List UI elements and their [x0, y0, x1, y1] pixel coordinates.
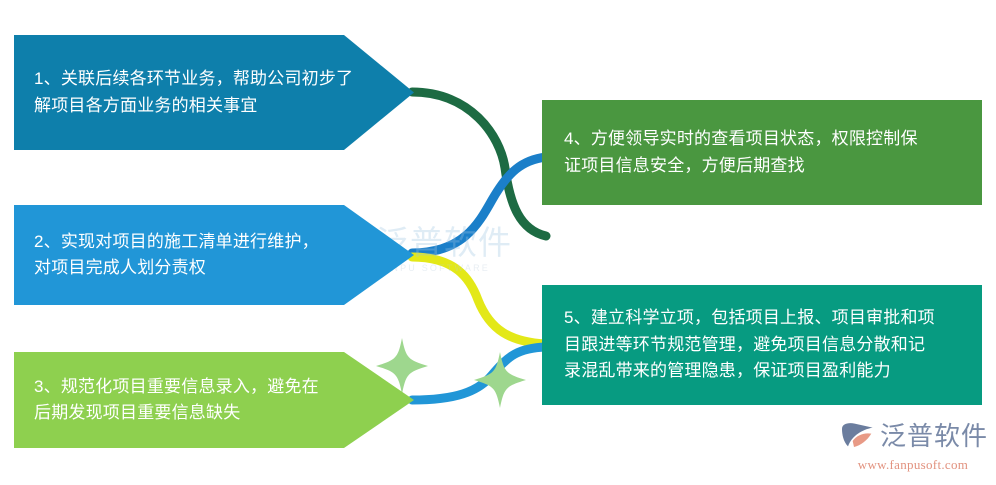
node-1-label: 1、关联后续各环节业务，帮助公司初步了 解项目各方面业务的相关事宜 — [34, 66, 376, 119]
diagram-node-1[interactable]: 1、关联后续各环节业务，帮助公司初步了 解项目各方面业务的相关事宜 — [14, 35, 414, 150]
brand-logo-text: 泛普软件 — [880, 424, 988, 450]
node-layer: 1、关联后续各环节业务，帮助公司初步了 解项目各方面业务的相关事宜 2、实现对项… — [0, 0, 996, 485]
brand-logo-url: www.fanpusoft.com — [858, 457, 968, 473]
diagram-canvas: 泛普软件 FANPU SOFTWARE 1、关联后续各环节业务，帮助公司初步了 … — [0, 0, 996, 485]
diagram-node-3[interactable]: 3、规范化项目重要信息录入，避免在 后期发现项目重要信息缺失 — [14, 352, 414, 448]
diagram-node-4[interactable]: 4、方便领导实时的查看项目状态，权限控制保 证项目信息安全，方便后期查找 — [542, 100, 982, 205]
node-5-label: 5、建立科学立项，包括项目上报、项目审批和项 目跟进等环节规范管理，避免项目信息… — [564, 305, 964, 384]
node-3-label: 3、规范化项目重要信息录入，避免在 后期发现项目重要信息缺失 — [34, 374, 376, 427]
node-2-label: 2、实现对项目的施工清单进行维护， 对项目完成人划分责权 — [34, 229, 376, 282]
diagram-node-5[interactable]: 5、建立科学立项，包括项目上报、项目审批和项 目跟进等环节规范管理，避免项目信息… — [542, 285, 982, 405]
brand-logo: 泛普软件 www.fanpusoft.com — [838, 421, 988, 473]
fanpu-logo-icon — [838, 421, 878, 453]
diagram-node-2[interactable]: 2、实现对项目的施工清单进行维护， 对项目完成人划分责权 — [14, 205, 414, 305]
node-4-label: 4、方便领导实时的查看项目状态，权限控制保 证项目信息安全，方便后期查找 — [564, 126, 964, 179]
brand-logo-row: 泛普软件 — [838, 421, 988, 453]
